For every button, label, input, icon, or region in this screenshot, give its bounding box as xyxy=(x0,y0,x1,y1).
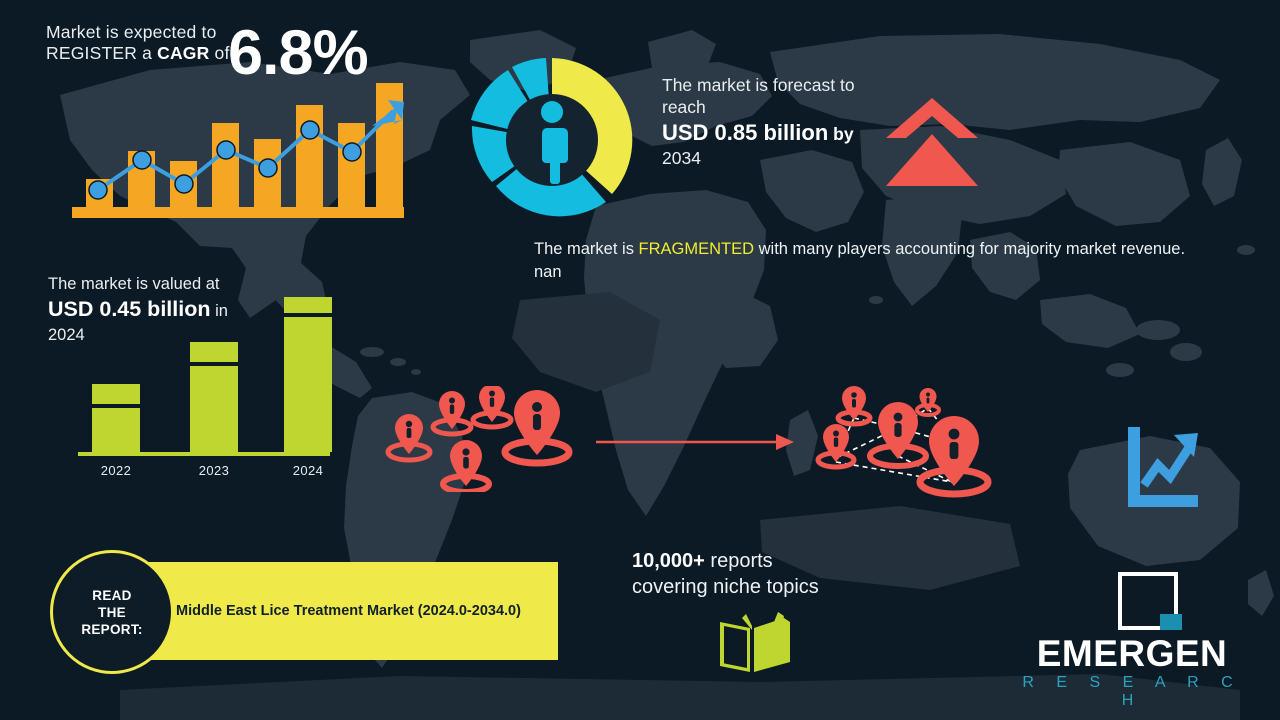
right-arrow-icon xyxy=(596,432,796,452)
reports-count: 10,000+ xyxy=(632,550,705,572)
growth-bar-chart xyxy=(72,88,408,218)
valuation-bar-chart: 2022 2023 2024 xyxy=(78,288,338,478)
valuation-bar xyxy=(92,384,140,452)
logo-name: EMERGEN xyxy=(1012,634,1252,674)
forecast-by: by xyxy=(828,124,853,144)
double-chevron-up-icon xyxy=(884,96,980,188)
badge-line1: READ xyxy=(92,588,131,603)
trend-point xyxy=(89,121,361,199)
map-pin-network-right xyxy=(806,384,1006,502)
chart-baseline xyxy=(78,452,330,456)
reports-line1-rest: reports xyxy=(705,550,773,572)
map-pin-person-icon xyxy=(433,391,471,434)
map-pin-person-icon xyxy=(917,388,939,415)
cagr-line2-post: of xyxy=(209,43,229,63)
emergen-research-logo[interactable]: EMERGEN R E S E A R C H xyxy=(1012,572,1252,696)
map-pin-person-icon xyxy=(838,386,870,424)
map-pin-person-icon xyxy=(443,440,489,492)
badge-line3: REPORT: xyxy=(81,622,142,637)
forecast-line2: reach xyxy=(662,97,706,117)
reports-line2: covering niche topics xyxy=(632,576,819,598)
open-book-icon xyxy=(716,612,794,674)
read-report-badge-text: READ THE REPORT: xyxy=(81,587,142,638)
map-pin-person-icon xyxy=(505,390,569,463)
valuation-bar xyxy=(190,342,238,452)
reports-caption: 10,000+ reports covering niche topics xyxy=(632,548,819,600)
cagr-value: 6.8% xyxy=(228,22,368,84)
cagr-line2-pre: REGISTER a xyxy=(46,43,157,63)
forecast-value-row: USD 0.85 billion by xyxy=(662,119,892,148)
infographic-canvas: Market is expected to REGISTER a CAGR of… xyxy=(0,0,1280,720)
cagr-line1: Market is expected to xyxy=(46,22,217,42)
badge-line2: THE xyxy=(98,605,126,620)
read-report-badge[interactable]: READ THE REPORT: xyxy=(50,550,174,674)
bar-cap-divider xyxy=(92,404,140,408)
line-chart-up-icon xyxy=(1122,423,1204,511)
map-pin-person-icon xyxy=(388,414,430,460)
report-title[interactable]: Middle East Lice Treatment Market (2024.… xyxy=(176,598,544,624)
logo-accent-icon xyxy=(1160,614,1182,630)
forecast-value: USD 0.85 billion xyxy=(662,120,828,145)
forecast-year: 2034 xyxy=(662,148,892,169)
bar-label-2024: 2024 xyxy=(268,463,348,478)
valuation-bar xyxy=(284,297,332,452)
map-pin-cluster-left xyxy=(384,386,584,492)
fragmentation-pre: The market is xyxy=(534,240,639,258)
bar-cap-divider xyxy=(190,362,238,366)
infographic-content: Market is expected to REGISTER a CAGR of… xyxy=(0,0,1280,720)
forecast-line1: The market is forecast to xyxy=(662,75,855,95)
map-pin-person-icon xyxy=(473,386,511,427)
trend-line xyxy=(72,88,408,218)
logo-subtitle: R E S E A R C H xyxy=(1012,674,1252,710)
bar-label-2023: 2023 xyxy=(174,463,254,478)
bar-label-2022: 2022 xyxy=(76,463,156,478)
fragmentation-highlight: FRAGMENTED xyxy=(639,240,755,258)
fragmentation-statement: The market is FRAGMENTED with many playe… xyxy=(534,238,1210,284)
map-pin-person-icon xyxy=(920,416,988,494)
bar-cap-divider xyxy=(284,313,332,317)
forecast-caption: The market is forecast to reach USD 0.85… xyxy=(662,74,892,169)
cagr-line2-bold: CAGR xyxy=(157,43,209,63)
market-share-donut xyxy=(466,54,638,226)
